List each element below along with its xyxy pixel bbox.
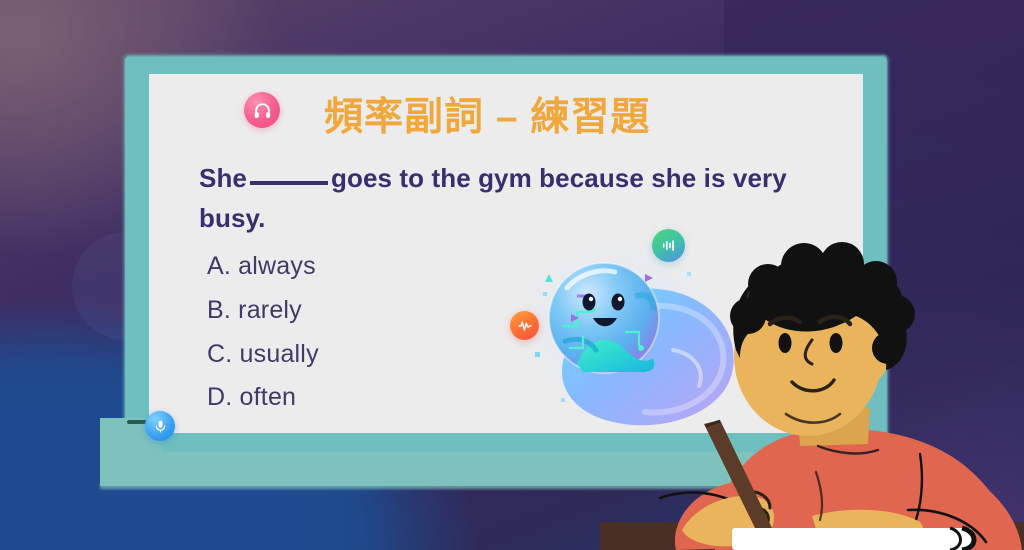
spiral-notebook (732, 528, 974, 550)
headphone-icon (253, 101, 272, 120)
slide-canvas: 頻率副詞 – 練習題 Shegoes to the gym because sh… (0, 0, 1024, 550)
question-suffix: goes to the gym because she is very busy… (199, 163, 787, 233)
boy-writing-illustration (620, 240, 1024, 550)
option-c[interactable]: C. usually (207, 333, 319, 377)
answer-blank (250, 181, 328, 185)
option-b[interactable]: B. rarely (207, 289, 319, 333)
waveform-icon (517, 318, 533, 334)
page-title: 頻率副詞 – 練習題 (324, 98, 650, 137)
microphone-icon (153, 419, 168, 434)
option-a[interactable]: A. always (207, 245, 319, 289)
question-text: Shegoes to the gym because she is very b… (199, 158, 834, 239)
headphone-badge[interactable] (244, 92, 280, 128)
options-list: A. always B. rarely C. usually D. often (207, 245, 319, 420)
microphone-badge[interactable] (145, 411, 175, 441)
question-prefix: She (199, 163, 247, 193)
waveform-badge-orange[interactable] (510, 311, 539, 340)
option-d[interactable]: D. often (207, 376, 319, 420)
